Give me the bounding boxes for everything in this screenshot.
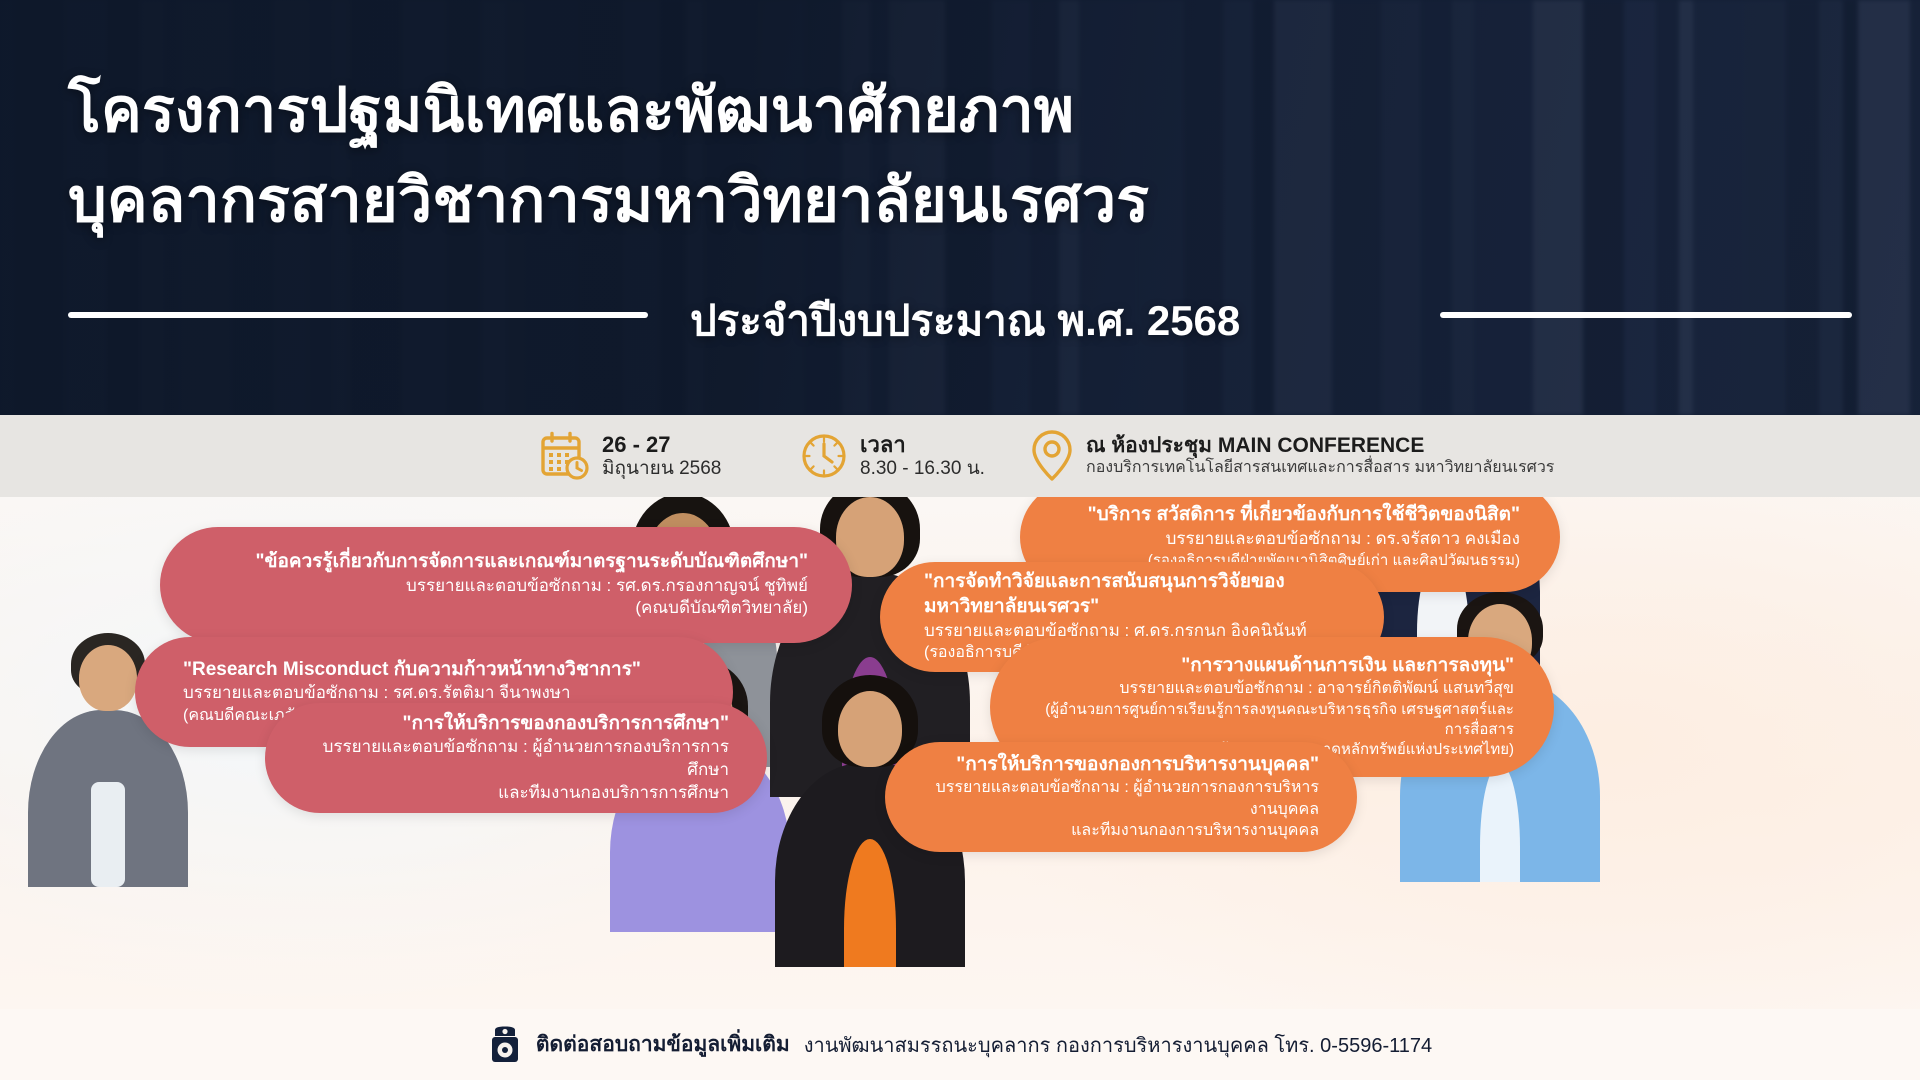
session-title: "การจัดทำวิจัยและการสนับสนุนการวิจัยของม… [924, 570, 1344, 619]
session-title: "การให้บริการของกองบริการการศึกษา" [309, 712, 729, 737]
time-value: 8.30 - 16.30 น. [860, 458, 985, 480]
header-banner: โครงการปฐมนิเทศและพัฒนาศักยภาพ บุคลากรสา… [0, 0, 1920, 415]
map-pin-icon [1030, 429, 1074, 483]
session-affiliation: (ผู้อำนวยการศูนย์การเรียนรู้การลงทุนคณะบ… [1034, 700, 1514, 740]
page-subtitle: ประจำปีงบประมาณ พ.ศ. 2568 [690, 288, 1240, 354]
poster-root: โครงการปฐมนิเทศและพัฒนาศักยภาพ บุคลากรสา… [0, 0, 1920, 1080]
place-name: ณ ห้องประชุม MAIN CONFERENCE [1086, 434, 1554, 459]
session-title: "ข้อควรรู้เกี่ยวกับการจัดการและเกณฑ์มาตร… [208, 550, 808, 575]
session-title: "การให้บริการของกองการบริหารงานบุคคล" [929, 753, 1319, 778]
session-speaker: บรรยายและตอบข้อซักถาม : ผู้อำนวยการกองกา… [929, 777, 1319, 820]
time-label: เวลา [860, 432, 985, 458]
session-speaker: บรรยายและตอบข้อซักถาม : อาจารย์กิตติพัฒน… [1034, 678, 1514, 699]
session-affiliation: และทีมงานกองบริการการศึกษา [309, 782, 729, 805]
session-card-graduate-standards: "ข้อควรรู้เกี่ยวกับการจัดการและเกณฑ์มาตร… [160, 527, 852, 643]
session-title: "Research Misconduct กับความก้าวหน้าทางว… [183, 658, 693, 683]
page-title-line-1: โครงการปฐมนิเทศและพัฒนาศักยภาพ [68, 78, 1074, 143]
telephone-icon [488, 1026, 522, 1064]
session-speaker: บรรยายและตอบข้อซักถาม : ผู้อำนวยการกองบร… [309, 736, 729, 782]
event-info-bar: 26 - 27 มิถุนายน 2568 เวลา 8.30 - 16.30 … [0, 415, 1920, 497]
divider-right [1440, 312, 1852, 318]
info-date: 26 - 27 มิถุนายน 2568 [540, 415, 721, 497]
session-affiliation: (คณบดีบัณฑิตวิทยาลัย) [208, 597, 808, 620]
date-value: 26 - 27 [602, 432, 721, 458]
footer-contact-detail: งานพัฒนาสมรรถนะบุคลากร กองการบริหารงานบุ… [804, 1029, 1432, 1061]
footer-contact-label: ติดต่อสอบถามข้อมูลเพิ่มเติม [536, 1028, 790, 1061]
session-speaker: บรรยายและตอบข้อซักถาม : ดร.จรัสดาว คงเมื… [1064, 528, 1520, 551]
session-speaker: บรรยายและตอบข้อซักถาม : รศ.ดร.กรองกาญจน์… [208, 575, 808, 598]
clock-icon [800, 432, 848, 480]
session-card-education-services: "การให้บริการของกองบริการการศึกษา" บรรยา… [265, 703, 767, 813]
calendar-clock-icon [540, 431, 590, 481]
info-place: ณ ห้องประชุม MAIN CONFERENCE กองบริการเท… [1030, 415, 1554, 497]
divider-left [68, 312, 648, 318]
session-card-hr-services: "การให้บริการของกองการบริหารงานบุคคล" บร… [885, 742, 1357, 852]
session-title: "บริการ สวัสดิการ ที่เกี่ยวข้องกับการใช้… [1064, 503, 1520, 528]
date-detail: มิถุนายน 2568 [602, 458, 721, 480]
page-title-line-2: บุคลากรสายวิชาการมหาวิทยาลัยนเรศวร [68, 168, 1149, 233]
place-detail: กองบริการเทคโนโลยีสารสนเทศและการสื่อสาร … [1086, 459, 1554, 478]
session-affiliation: และทีมงานกองการบริหารงานบุคคล [929, 820, 1319, 841]
footer-contact-bar: ติดต่อสอบถามข้อมูลเพิ่มเติม งานพัฒนาสมรร… [0, 1009, 1920, 1080]
info-time: เวลา 8.30 - 16.30 น. [800, 415, 985, 497]
session-title: "การวางแผนด้านการเงิน และการลงทุน" [1034, 654, 1514, 679]
session-speaker: บรรยายและตอบข้อซักถาม : รศ.ดร.รัตติมา จี… [183, 682, 693, 705]
speakers-section: "ข้อควรรู้เกี่ยวกับการจัดการและเกณฑ์มาตร… [0, 497, 1920, 1009]
subtitle-row: ประจำปีงบประมาณ พ.ศ. 2568 [0, 288, 1920, 342]
